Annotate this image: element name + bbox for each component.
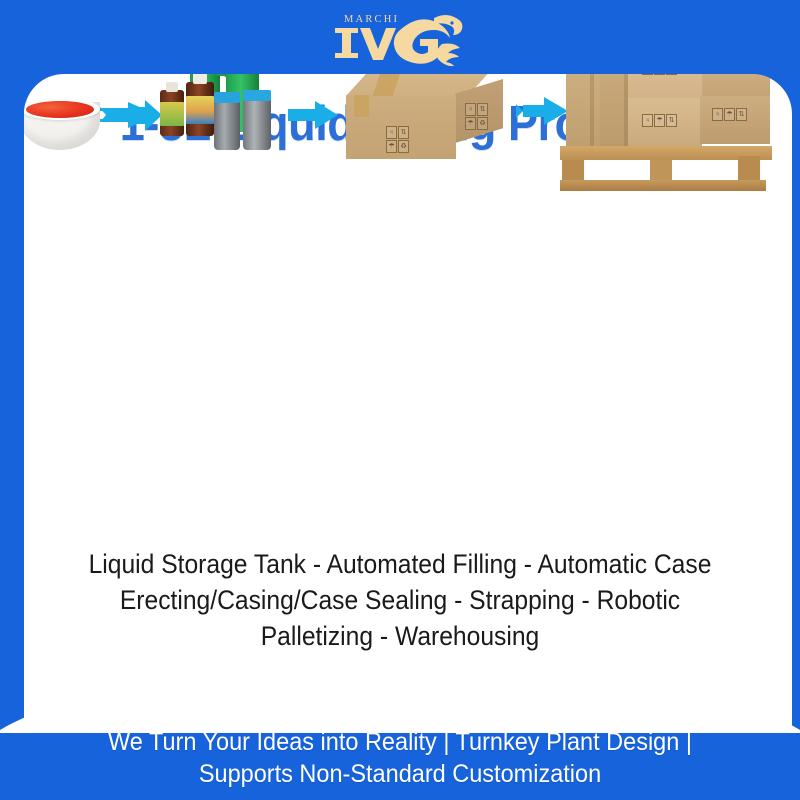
footer-tagline: We Turn Your Ideas into Reality | Turnke… bbox=[24, 726, 776, 790]
liquid-surface-icon bbox=[26, 101, 94, 118]
logo-brand-name: MARCHI bbox=[344, 14, 399, 25]
pallet-stringer-right bbox=[738, 156, 760, 180]
process-step-sealed-carton: ♃ ⇅ ☂ ♻ ♃ ⇅ ☂ ♻ bbox=[332, 74, 517, 168]
pallet-strap-2 bbox=[624, 74, 628, 150]
process-step-palletized-load: ♃ ☂ ⇅ ♃ ☂ ⇅ ♃ ☂ ⇅ ♃ ☂ ⇅ bbox=[560, 74, 775, 204]
amber-bottle-large-label bbox=[186, 96, 214, 124]
dragon-logo-icon: MARCHI bbox=[330, 4, 470, 66]
arrow-right-icon-2 bbox=[288, 100, 338, 130]
arrow-right-icon-1 bbox=[100, 98, 162, 132]
carton-tape-front bbox=[354, 95, 369, 117]
fragile-glass-icon: ♃ bbox=[712, 108, 723, 121]
recycle-icon: ♻ bbox=[398, 140, 409, 153]
company-logo: MARCHI bbox=[330, 4, 470, 66]
pallet-bottom-board bbox=[560, 180, 766, 191]
fragile-glass-icon: ♃ bbox=[642, 74, 653, 75]
pallet-symbols-upper-left: ♃ ☂ ⇅ bbox=[642, 74, 677, 75]
this-way-up-icon: ⇅ bbox=[398, 126, 409, 139]
amber-bottle-large-cap bbox=[193, 74, 207, 84]
carton-symbols-side: ♃ ⇅ ☂ ♻ bbox=[465, 103, 488, 130]
gray-bottle-1 bbox=[214, 100, 240, 150]
pallet-box-top-right bbox=[700, 74, 770, 96]
process-flow-diagram: ♃ ⇅ ☂ ♻ ♃ ⇅ ☂ ♻ bbox=[24, 74, 792, 225]
amber-bottle-small-cap bbox=[166, 82, 178, 92]
gray-bottle-2-cap bbox=[243, 90, 271, 101]
keep-dry-umbrella-icon: ☂ bbox=[465, 117, 476, 130]
this-way-up-icon: ⇅ bbox=[736, 108, 747, 121]
fragile-glass-icon: ♃ bbox=[642, 114, 653, 127]
gray-bottle-1-cap bbox=[214, 92, 240, 103]
this-way-up-icon: ⇅ bbox=[477, 103, 488, 116]
process-step-filled-bottles bbox=[160, 74, 278, 156]
process-step-bulk-liquid bbox=[24, 96, 100, 156]
footer-line-1: We Turn Your Ideas into Reality | Turnke… bbox=[24, 726, 776, 758]
keep-dry-umbrella-icon: ☂ bbox=[654, 114, 665, 127]
fragile-glass-icon: ♃ bbox=[386, 126, 397, 139]
carton-symbols-front: ♃ ⇅ ☂ ♻ bbox=[386, 126, 409, 153]
keep-dry-umbrella-icon: ☂ bbox=[654, 74, 665, 75]
content-panel: 1-5L Liquid Filling Process bbox=[24, 74, 792, 736]
fragile-glass-icon: ♃ bbox=[465, 103, 476, 116]
pallet-symbols-lower-right: ♃ ☂ ⇅ bbox=[712, 108, 747, 121]
gray-bottle-2 bbox=[243, 98, 271, 150]
amber-bottle-small-label bbox=[160, 102, 184, 126]
pallet-box-front-upper bbox=[628, 74, 702, 98]
poster-frame: MARCHI 1-5L Liquid Filling Process bbox=[0, 0, 800, 800]
recycle-icon: ♻ bbox=[477, 117, 488, 130]
this-way-up-icon: ⇅ bbox=[666, 74, 677, 75]
footer-line-2: Supports Non-Standard Customization bbox=[24, 758, 776, 790]
keep-dry-umbrella-icon: ☂ bbox=[386, 140, 397, 153]
this-way-up-icon: ⇅ bbox=[666, 114, 677, 127]
pallet-strap-1 bbox=[590, 74, 594, 150]
pallet-symbols-lower-left: ♃ ☂ ⇅ bbox=[642, 114, 677, 127]
process-description: Liquid Storage Tank - Automated Filling … bbox=[65, 546, 735, 654]
keep-dry-umbrella-icon: ☂ bbox=[724, 108, 735, 121]
